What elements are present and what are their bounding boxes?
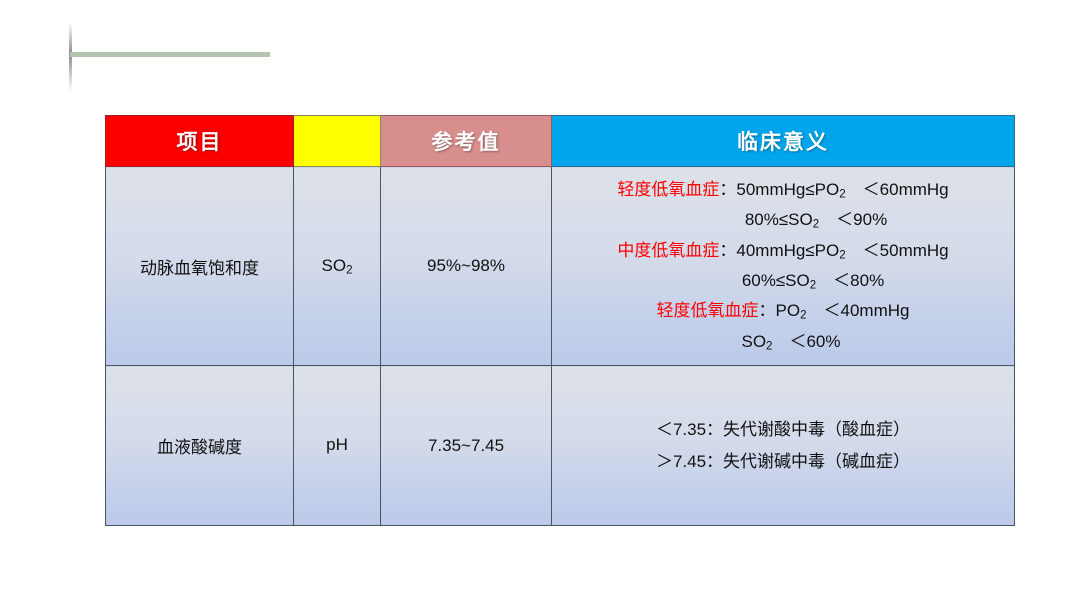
abbreviation-main: SO bbox=[322, 256, 347, 275]
reference-value-text: 7.35~7.45 bbox=[381, 436, 551, 456]
cell-clinical-meaning: ＜7.35：失代谢酸中毒（酸血症）＞7.45：失代谢碱中毒（碱血症） bbox=[552, 366, 1015, 526]
value-subscript: 2 bbox=[810, 280, 816, 292]
meaning-line: 轻度低氧血症：50mmHg≤PO2 ＜60mmHg bbox=[558, 175, 1008, 205]
abbreviation-main: pH bbox=[326, 435, 348, 454]
meaning-line: 80%≤SO2 ＜90% bbox=[558, 205, 1008, 235]
meaning-line: ＜7.35：失代谢酸中毒（酸血症） bbox=[558, 414, 1008, 445]
cell-abbreviation: pH bbox=[294, 366, 381, 526]
header-cell-abbreviation bbox=[294, 116, 381, 167]
table-row: 血液酸碱度 pH 7.35~7.45 ＜7.35：失代谢酸中毒（酸血症）＞7.4… bbox=[106, 366, 1015, 526]
header-cell-item: 项目 bbox=[106, 116, 294, 167]
abbreviation-text: SO2 bbox=[294, 256, 380, 277]
decorative-vertical-rule bbox=[69, 24, 72, 90]
value-subscript: 2 bbox=[766, 340, 772, 352]
table-header-row: 项目 参考值 临床意义 bbox=[106, 116, 1015, 167]
table-row: 动脉血氧饱和度 SO2 95%~98% 轻度低氧血症：50mmHg≤PO2 ＜6… bbox=[106, 167, 1015, 366]
meaning-line: ＞7.45：失代谢碱中毒（碱血症） bbox=[558, 446, 1008, 477]
cell-reference-value: 7.35~7.45 bbox=[381, 366, 552, 526]
value-subscript: 2 bbox=[800, 310, 806, 322]
header-cell-reference: 参考值 bbox=[381, 116, 552, 167]
clinical-meaning-text: 轻度低氧血症：50mmHg≤PO2 ＜60mmHg80%≤SO2 ＜90%中度低… bbox=[558, 175, 1008, 357]
meaning-line: 60%≤SO2 ＜80% bbox=[558, 266, 1008, 296]
severity-label: 轻度低氧血症 bbox=[617, 180, 719, 199]
header-label-meaning: 临床意义 bbox=[737, 131, 829, 154]
severity-label: 轻度低氧血症 bbox=[657, 301, 759, 320]
value-subscript: 2 bbox=[839, 249, 845, 261]
cell-clinical-meaning: 轻度低氧血症：50mmHg≤PO2 ＜60mmHg80%≤SO2 ＜90%中度低… bbox=[552, 167, 1015, 366]
meaning-line: 轻度低氧血症：PO2 ＜40mmHg bbox=[558, 296, 1008, 326]
abbreviation-subscript: 2 bbox=[346, 264, 352, 276]
abbreviation-text: pH bbox=[294, 435, 380, 456]
item-name-text: 血液酸碱度 bbox=[106, 433, 293, 458]
meaning-line: 中度低氧血症：40mmHg≤PO2 ＜50mmHg bbox=[558, 236, 1008, 266]
header-label-item: 项目 bbox=[177, 131, 223, 154]
meaning-line: SO2 ＜60% bbox=[558, 327, 1008, 357]
blood-gas-reference-table: 项目 参考值 临床意义 动脉血氧饱和度 SO2 95%~98% 轻度 bbox=[105, 115, 1015, 526]
item-name-text: 动脉血氧饱和度 bbox=[106, 254, 293, 279]
cell-item-name: 动脉血氧饱和度 bbox=[106, 167, 294, 366]
decorative-horizontal-rule bbox=[70, 52, 270, 57]
value-subscript: 2 bbox=[839, 188, 845, 200]
value-subscript: 2 bbox=[813, 219, 819, 231]
reference-value-text: 95%~98% bbox=[381, 256, 551, 276]
severity-label: 中度低氧血症 bbox=[617, 241, 719, 260]
cell-reference-value: 95%~98% bbox=[381, 167, 552, 366]
clinical-meaning-text: ＜7.35：失代谢酸中毒（酸血症）＞7.45：失代谢碱中毒（碱血症） bbox=[558, 414, 1008, 477]
header-label-reference: 参考值 bbox=[432, 131, 501, 154]
header-cell-meaning: 临床意义 bbox=[552, 116, 1015, 167]
cell-item-name: 血液酸碱度 bbox=[106, 366, 294, 526]
cell-abbreviation: SO2 bbox=[294, 167, 381, 366]
